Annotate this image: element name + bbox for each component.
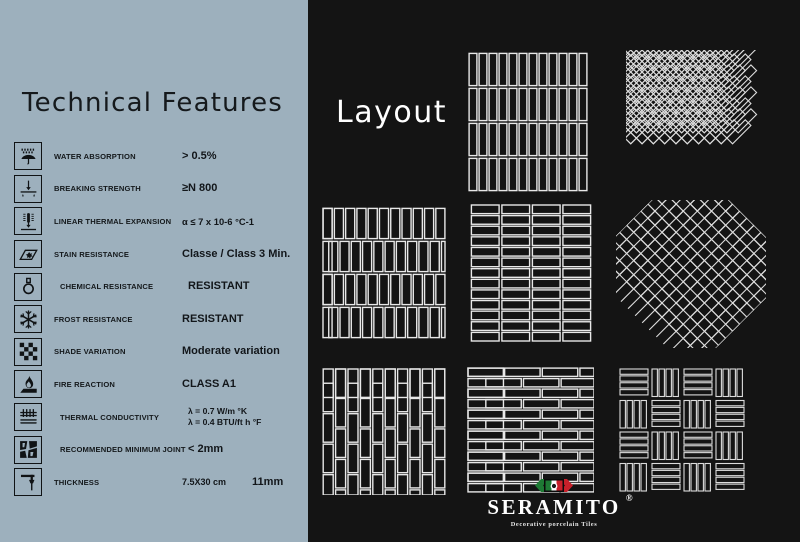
pattern-basketweave-parquet — [618, 367, 746, 493]
pattern-vertical-stack-bond — [468, 52, 588, 192]
spec-value: > 0.5% — [182, 151, 308, 162]
vertical-stack-bond-icon — [468, 52, 588, 192]
spec-row: LINEAR THERMAL EXPANSIONα ≤ 7 x 10-6 °C-… — [0, 205, 308, 238]
technical-features-panel: Technical Features WATER ABSORPTION> 0.5… — [0, 0, 308, 542]
spec-row: STAIN RESISTANCEClasse / Class 3 Min. — [0, 238, 308, 271]
logo-registered-mark: ® — [626, 493, 633, 503]
spec-label: LINEAR THERMAL EXPANSION — [54, 217, 182, 226]
fire-reaction-icon — [14, 370, 42, 398]
spec-value: Classe / Class 3 Min. — [182, 249, 308, 260]
pattern-herringbone — [626, 50, 766, 190]
spec-label: FROST RESISTANCE — [54, 315, 182, 324]
spec-label: RECOMMENDED MINIMUM JOINT — [54, 445, 188, 454]
spec-value: RESISTANT — [182, 314, 308, 325]
logo-tagline: Decorative porcelain Tiles — [454, 521, 654, 528]
page-title: Technical Features — [22, 88, 283, 118]
specification-list: WATER ABSORPTION> 0.5% BREAKING STRENGTH… — [0, 140, 308, 499]
spec-row: FIRE REACTIONCLASS A1 — [0, 368, 308, 401]
spec-label: SHADE VARIATION — [54, 347, 182, 356]
shade-variation-icon — [14, 338, 42, 366]
layout-panel: Layout — [308, 0, 800, 542]
spec-value-thickness: 11mm — [252, 477, 283, 488]
spec-value-size: 7.5X30 cm — [182, 477, 226, 488]
spec-value: < 2mm — [188, 444, 308, 455]
spec-value: 7.5X30 cm11mm — [182, 477, 308, 488]
spec-value: ≥N 800 — [182, 183, 308, 194]
spec-value: λ = 0.7 W/m °K λ = 0.4 BTU/ft h °F — [188, 406, 308, 428]
diagonal-herringbone-icon — [616, 200, 766, 348]
spec-value: α ≤ 7 x 10-6 °C-1 — [182, 216, 308, 227]
minimum-joint-icon — [14, 436, 42, 464]
spec-row: FROST RESISTANCERESISTANT — [0, 303, 308, 336]
pattern-horizontal-brick-bond — [466, 367, 594, 493]
spec-row: BREAKING STRENGTH≥N 800 — [0, 173, 308, 206]
thermal-conductivity-icon — [14, 403, 42, 431]
herringbone-icon — [626, 50, 766, 190]
brochure-page: Technical Features WATER ABSORPTION> 0.5… — [0, 0, 800, 542]
stain-resistance-icon — [14, 240, 42, 268]
pattern-vertical-running-bond-rows — [322, 207, 446, 339]
pattern-horizontal-stack-bond — [470, 204, 592, 342]
breaking-strength-icon — [14, 175, 42, 203]
thermal-expansion-icon — [14, 207, 42, 235]
pattern-diagonal-herringbone — [616, 200, 766, 348]
thickness-icon — [14, 468, 42, 496]
chemical-resistance-icon — [14, 273, 42, 301]
horizontal-brick-bond-icon — [466, 367, 594, 493]
logo-name-text: SERAMITO — [487, 495, 620, 519]
spec-label: WATER ABSORPTION — [54, 152, 182, 161]
basketweave-parquet-icon — [618, 367, 746, 493]
spec-label: STAIN RESISTANCE — [54, 250, 182, 259]
spec-row: SHADE VARIATIONModerate variation — [0, 336, 308, 369]
spec-label: THERMAL CONDUCTIVITY — [54, 413, 188, 422]
pattern-grid — [308, 22, 796, 492]
spec-label: BREAKING STRENGTH — [54, 184, 182, 193]
spec-row: CHEMICAL RESISTANCERESISTANT — [0, 270, 308, 303]
spec-value: RESISTANT — [188, 281, 308, 292]
brand-logo: SERAMITO ® Decorative porcelain Tiles — [454, 477, 654, 528]
spec-value: CLASS A1 — [182, 379, 308, 390]
frost-resistance-icon — [14, 305, 42, 333]
spec-row: WATER ABSORPTION> 0.5% — [0, 140, 308, 173]
spec-row: THERMAL CONDUCTIVITYλ = 0.7 W/m °K λ = 0… — [0, 401, 308, 434]
logo-mark-icon — [527, 477, 581, 494]
water-absorption-icon — [14, 142, 42, 170]
horizontal-stack-bond-icon — [470, 204, 592, 342]
spec-label: THICKNESS — [54, 478, 182, 487]
spec-row: THICKNESS7.5X30 cm11mm — [0, 466, 308, 499]
logo-wordmark: SERAMITO ® — [487, 495, 620, 520]
pattern-vertical-offset-bond — [322, 367, 446, 495]
spec-label: FIRE REACTION — [54, 380, 182, 389]
spec-label: CHEMICAL RESISTANCE — [54, 282, 188, 291]
spec-value: Moderate variation — [182, 346, 308, 357]
spec-row: RECOMMENDED MINIMUM JOINT< 2mm — [0, 433, 308, 466]
vertical-running-bond-rows-icon — [322, 207, 446, 339]
vertical-offset-bond-icon — [322, 367, 446, 495]
